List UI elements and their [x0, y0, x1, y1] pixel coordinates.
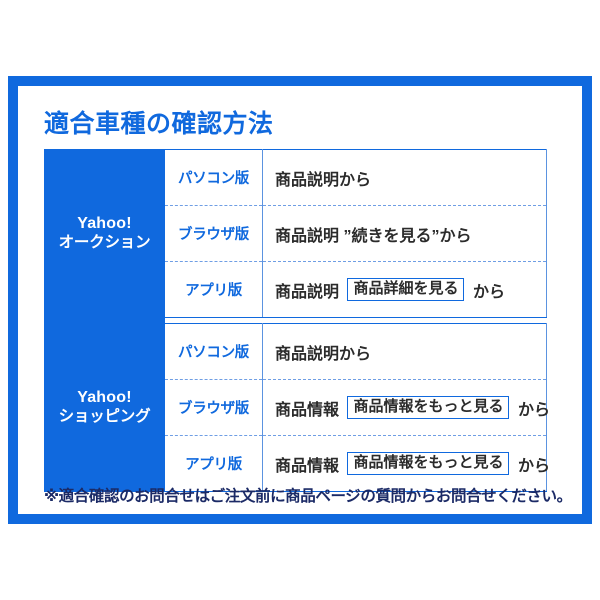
description-cell: 商品説明 ”続きを見る”から — [263, 206, 547, 262]
brand-cell-shopping: Yahoo! ショッピング — [45, 324, 165, 492]
boxed-action-label[interactable]: 商品情報をもっと見る — [347, 396, 509, 420]
platform-label: アプリ版 — [165, 262, 263, 318]
brand-subtitle: ショッピング — [45, 408, 164, 426]
page-title: 適合車種の確認方法 — [44, 104, 274, 140]
platform-label: パソコン版 — [165, 150, 263, 206]
description-suffix: から — [518, 402, 550, 419]
platform-label: パソコン版 — [165, 324, 263, 380]
footer-note: ※適合確認のお問合せはご注文前に商品ページの質問からお問合せください。 — [44, 484, 572, 506]
description-cell: 商品説明から — [263, 324, 547, 380]
description-prefix: 商品説明 — [275, 284, 339, 301]
brand-name: Yahoo! — [45, 389, 164, 408]
description-cell: 商品説明 商品詳細を見る から — [263, 262, 547, 318]
table-row: Yahoo! オークション パソコン版 商品説明から — [45, 150, 547, 206]
table-row: Yahoo! ショッピング パソコン版 商品説明から — [45, 324, 547, 380]
description-suffix: から — [473, 284, 505, 301]
brand-subtitle: オークション — [45, 234, 164, 252]
compatibility-table: Yahoo! オークション パソコン版 商品説明から ブラウザ版 商品説明 ”続… — [44, 149, 547, 492]
boxed-action-label[interactable]: 商品情報をもっと見る — [347, 452, 509, 476]
description-cell: 商品情報 商品情報をもっと見る から — [263, 380, 547, 436]
platform-label: ブラウザ版 — [165, 206, 263, 262]
description-prefix: 商品説明 ”続きを見る”から — [275, 228, 471, 245]
brand-name: Yahoo! — [45, 215, 164, 234]
platform-label: ブラウザ版 — [165, 380, 263, 436]
description-prefix: 商品説明から — [275, 346, 371, 363]
brand-cell-auction: Yahoo! オークション — [45, 150, 165, 318]
description-prefix: 商品情報 — [275, 402, 339, 419]
description-prefix: 商品情報 — [275, 458, 339, 475]
blue-frame: 適合車種の確認方法 Yahoo! オークション パソコン版 商品説明から — [8, 76, 592, 524]
description-suffix: から — [518, 458, 550, 475]
frame-inner-panel: 適合車種の確認方法 Yahoo! オークション パソコン版 商品説明から — [18, 86, 582, 514]
screenshot-stage: 適合車種の確認方法 Yahoo! オークション パソコン版 商品説明から — [0, 0, 600, 600]
description-cell: 商品説明から — [263, 150, 547, 206]
boxed-action-label[interactable]: 商品詳細を見る — [347, 278, 464, 302]
description-prefix: 商品説明から — [275, 172, 371, 189]
